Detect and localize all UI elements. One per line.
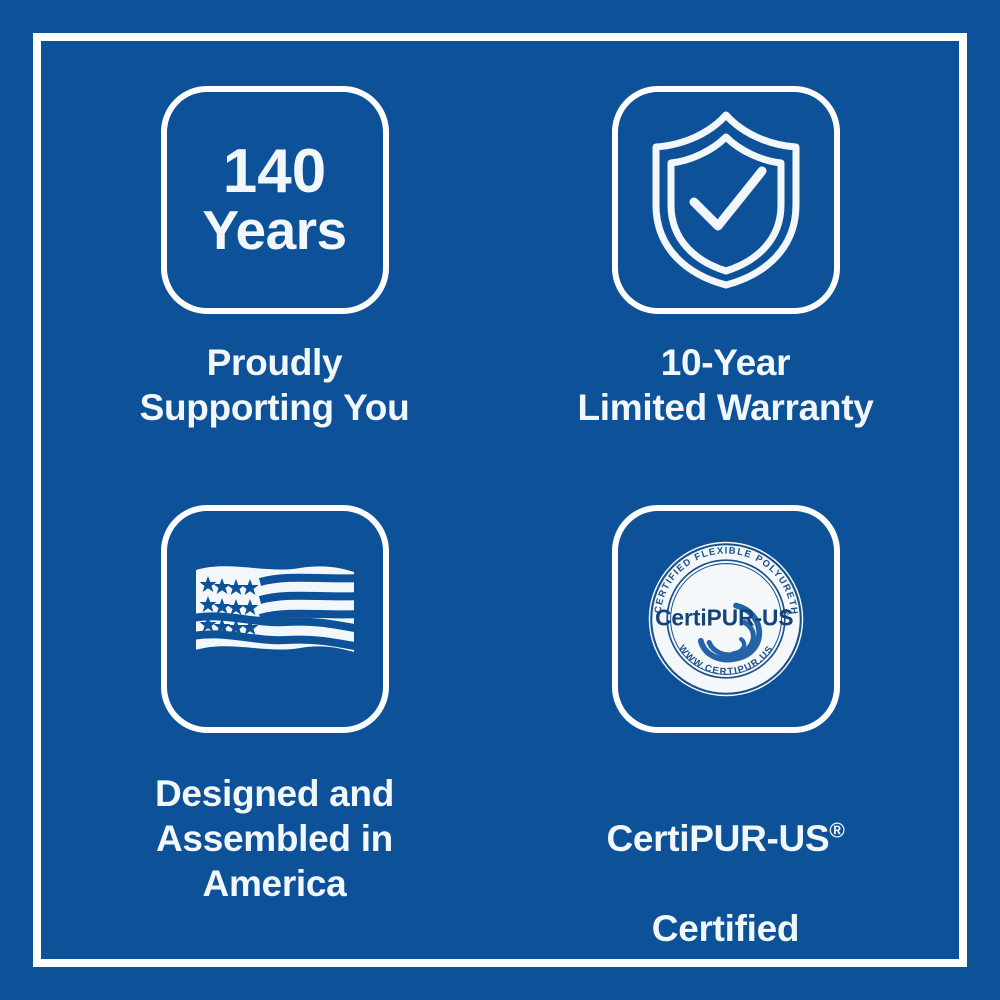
badge-140-years: 140 Years Proudly Supporting You — [49, 49, 500, 468]
years-text-block: 140 Years — [202, 142, 346, 259]
certipur-caption-main: CertiPUR-US — [606, 818, 829, 859]
warranty-tile — [612, 86, 840, 314]
certipur-caption-line2: Certified — [652, 908, 799, 949]
flag-tile — [161, 505, 389, 733]
badge-caption-flag: Designed and Assembled in America — [155, 771, 394, 906]
badge-caption-warranty: 10-Year Limited Warranty — [577, 340, 873, 430]
badge-panel: 140 Years Proudly Supporting You 10-Year… — [0, 0, 1000, 1000]
certipur-us-seal-icon: CertiPUR-US ® CONTAINS CERTIFIED FLEXIBL… — [642, 535, 810, 703]
years-word: Years — [202, 204, 346, 258]
years-tile-icon: 140 Years — [161, 86, 389, 314]
badge-caption-years: Proudly Supporting You — [140, 340, 410, 430]
years-number: 140 — [202, 142, 346, 203]
certipur-tile: CertiPUR-US ® CONTAINS CERTIFIED FLEXIBL… — [612, 505, 840, 733]
usa-flag-icon — [190, 560, 360, 678]
badge-made-in-america: Designed and Assembled in America — [49, 468, 500, 952]
badge-warranty: 10-Year Limited Warranty — [500, 49, 951, 468]
badge-caption-certipur: CertiPUR-US® Certified — [606, 771, 844, 952]
badge-grid: 140 Years Proudly Supporting You 10-Year… — [49, 49, 951, 951]
certipur-seal-wordmark: CertiPUR-US — [655, 604, 793, 630]
certipur-caption-registered-mark: ® — [829, 819, 844, 842]
shield-check-icon — [640, 109, 812, 291]
badge-certipur-us: CertiPUR-US ® CONTAINS CERTIFIED FLEXIBL… — [500, 468, 951, 952]
